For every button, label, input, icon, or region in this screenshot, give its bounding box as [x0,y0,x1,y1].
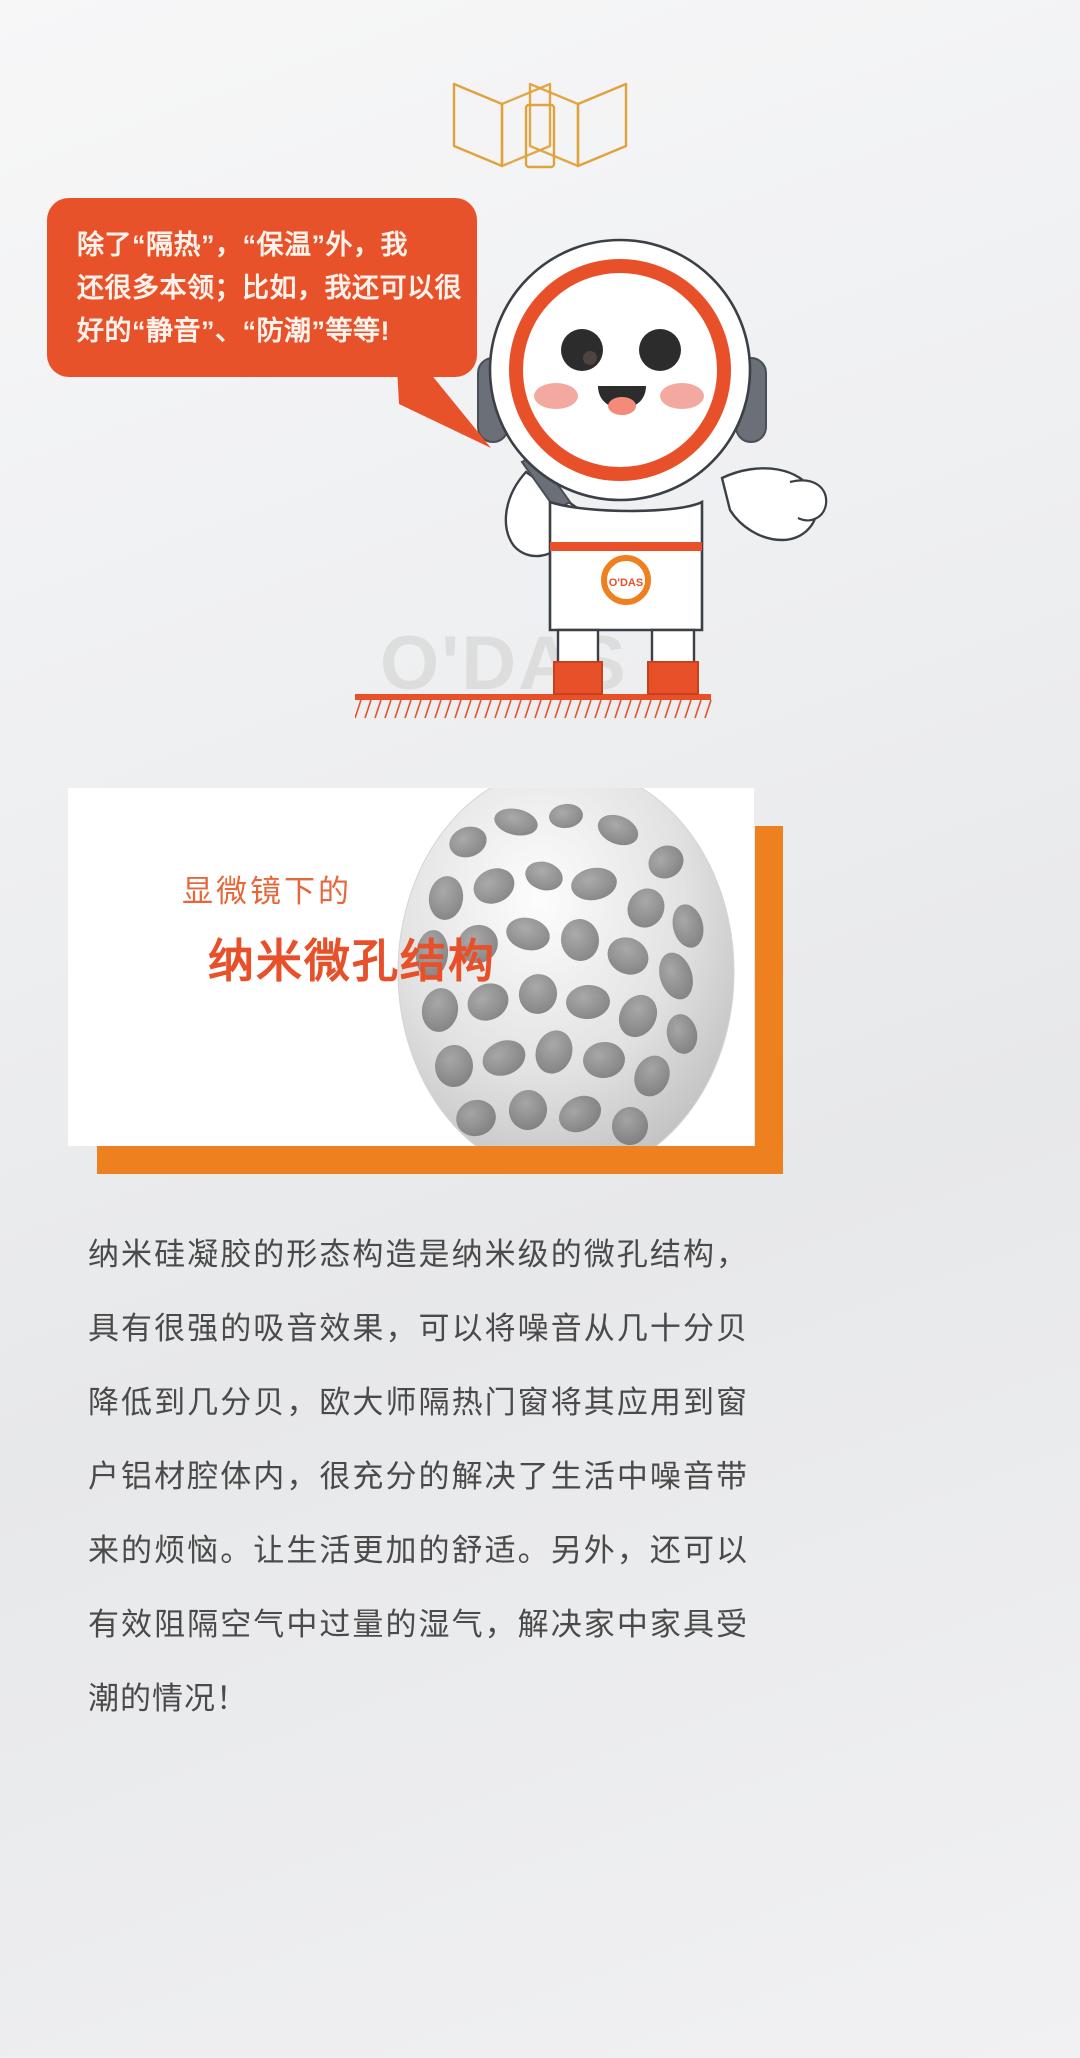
astronaut-mascot: O'DAS [430,210,860,720]
micro-structure-card: 显微镜下的 纳米微孔结构 [68,788,754,1146]
body-paragraph: 纳米硅凝胶的形态构造是纳米级的微孔结构，具有很强的吸音效果，可以将噪音从几十分贝… [88,1218,748,1736]
speech-bubble-line-1: 除了“隔热”，“保温”外，我 [77,224,451,267]
card-eyebrow: 显微镜下的 [182,866,496,911]
speech-bubble-line-3: 好的“静音”、“防潮”等等! [77,310,451,353]
accent-bar-bottom [97,1146,783,1174]
mascot-right-eye [639,329,681,371]
mascot-left-blush [534,383,578,409]
mascot-right-blush [660,383,704,409]
speech-bubble: 除了“隔热”，“保温”外，我 还很多本领；比如，我还可以很 好的“静音”、“防潮… [47,198,477,377]
svg-text:O'DAS: O'DAS [609,577,643,589]
mascot-left-eye [561,329,603,371]
accent-bar-right [755,826,783,1166]
card-title: 纳米微孔结构 [208,925,496,991]
brand-logo [0,62,1080,177]
odas-window-logo-icon [440,62,640,177]
speech-bubble-line-2: 还很多本领；比如，我还可以很 [77,267,451,310]
